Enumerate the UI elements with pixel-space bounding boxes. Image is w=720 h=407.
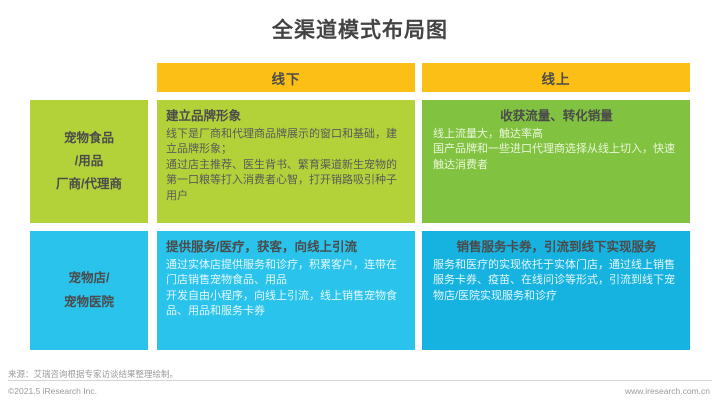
matrix-chart: 线下 线上 宠物食品 /用品 厂商/代理商 建立品牌形象 线下是厂商和代理商品牌…: [30, 63, 690, 350]
copyright-note: ©2021.5 iResearch Inc.: [8, 386, 97, 396]
matrix-header-row: 线下 线上: [30, 63, 690, 92]
cell-manufacturer-online: 收获流量、转化销量 线上流量大，触达率高国产品牌和一些进口代理商选择从线上切入，…: [422, 100, 690, 223]
cell-petstore-offline: 提供服务/医疗，获客，向线上引流 通过实体店提供服务和诊疗，积累客户，连带在门店…: [157, 231, 415, 350]
cell-body: 线下是厂商和代理商品牌展示的窗口和基础，建立品牌形象；通过店主推荐、医生背书、繁…: [166, 127, 407, 205]
page-title: 全渠道模式布局图: [0, 14, 720, 44]
column-header-offline: 线下: [157, 63, 415, 92]
cell-petstore-online: 销售服务卡券，引流到线下实现服务 服务和医疗的实现依托于实体门店，通过线上销售服…: [422, 231, 690, 350]
cell-body: 通过实体店提供服务和诊疗，积累客户，连带在门店销售宠物食品、用品开发自由小程序，…: [166, 258, 407, 320]
matrix-row-manufacturer: 宠物食品 /用品 厂商/代理商 建立品牌形象 线下是厂商和代理商品牌展示的窗口和…: [30, 100, 690, 223]
cell-manufacturer-offline: 建立品牌形象 线下是厂商和代理商品牌展示的窗口和基础，建立品牌形象；通过店主推荐…: [157, 100, 415, 223]
cell-title: 收获流量、转化销量: [433, 109, 680, 125]
column-header-online: 线上: [422, 63, 690, 92]
row-label-petstore: 宠物店/ 宠物医院: [30, 231, 148, 350]
row-label-line: 厂商/代理商: [56, 178, 122, 191]
row-label-manufacturer: 宠物食品 /用品 厂商/代理商: [30, 100, 148, 223]
row-label-line: /用品: [75, 155, 103, 168]
cell-body: 服务和医疗的实现依托于实体门店，通过线上销售服务卡券、疫苗、在线问诊等形式，引流…: [433, 258, 680, 305]
row-label-line: 宠物店/: [69, 272, 110, 285]
footer-divider: [8, 380, 712, 381]
source-note: 来源：艾瑞咨询根据专家访谈结果整理绘制。: [8, 368, 178, 380]
row-label-line: 宠物医院: [64, 296, 114, 309]
matrix-row-petstore: 宠物店/ 宠物医院 提供服务/医疗，获客，向线上引流 通过实体店提供服务和诊疗，…: [30, 231, 690, 350]
website-url: www.iresearch.com.cn: [625, 386, 710, 396]
cell-title: 提供服务/医疗，获客，向线上引流: [166, 240, 407, 256]
cell-title: 销售服务卡券，引流到线下实现服务: [433, 240, 680, 256]
cell-body: 线上流量大，触达率高国产品牌和一些进口代理商选择从线上切入，快速触达消费者: [433, 127, 680, 174]
row-label-line: 宠物食品: [64, 132, 114, 145]
cell-title: 建立品牌形象: [166, 109, 407, 125]
